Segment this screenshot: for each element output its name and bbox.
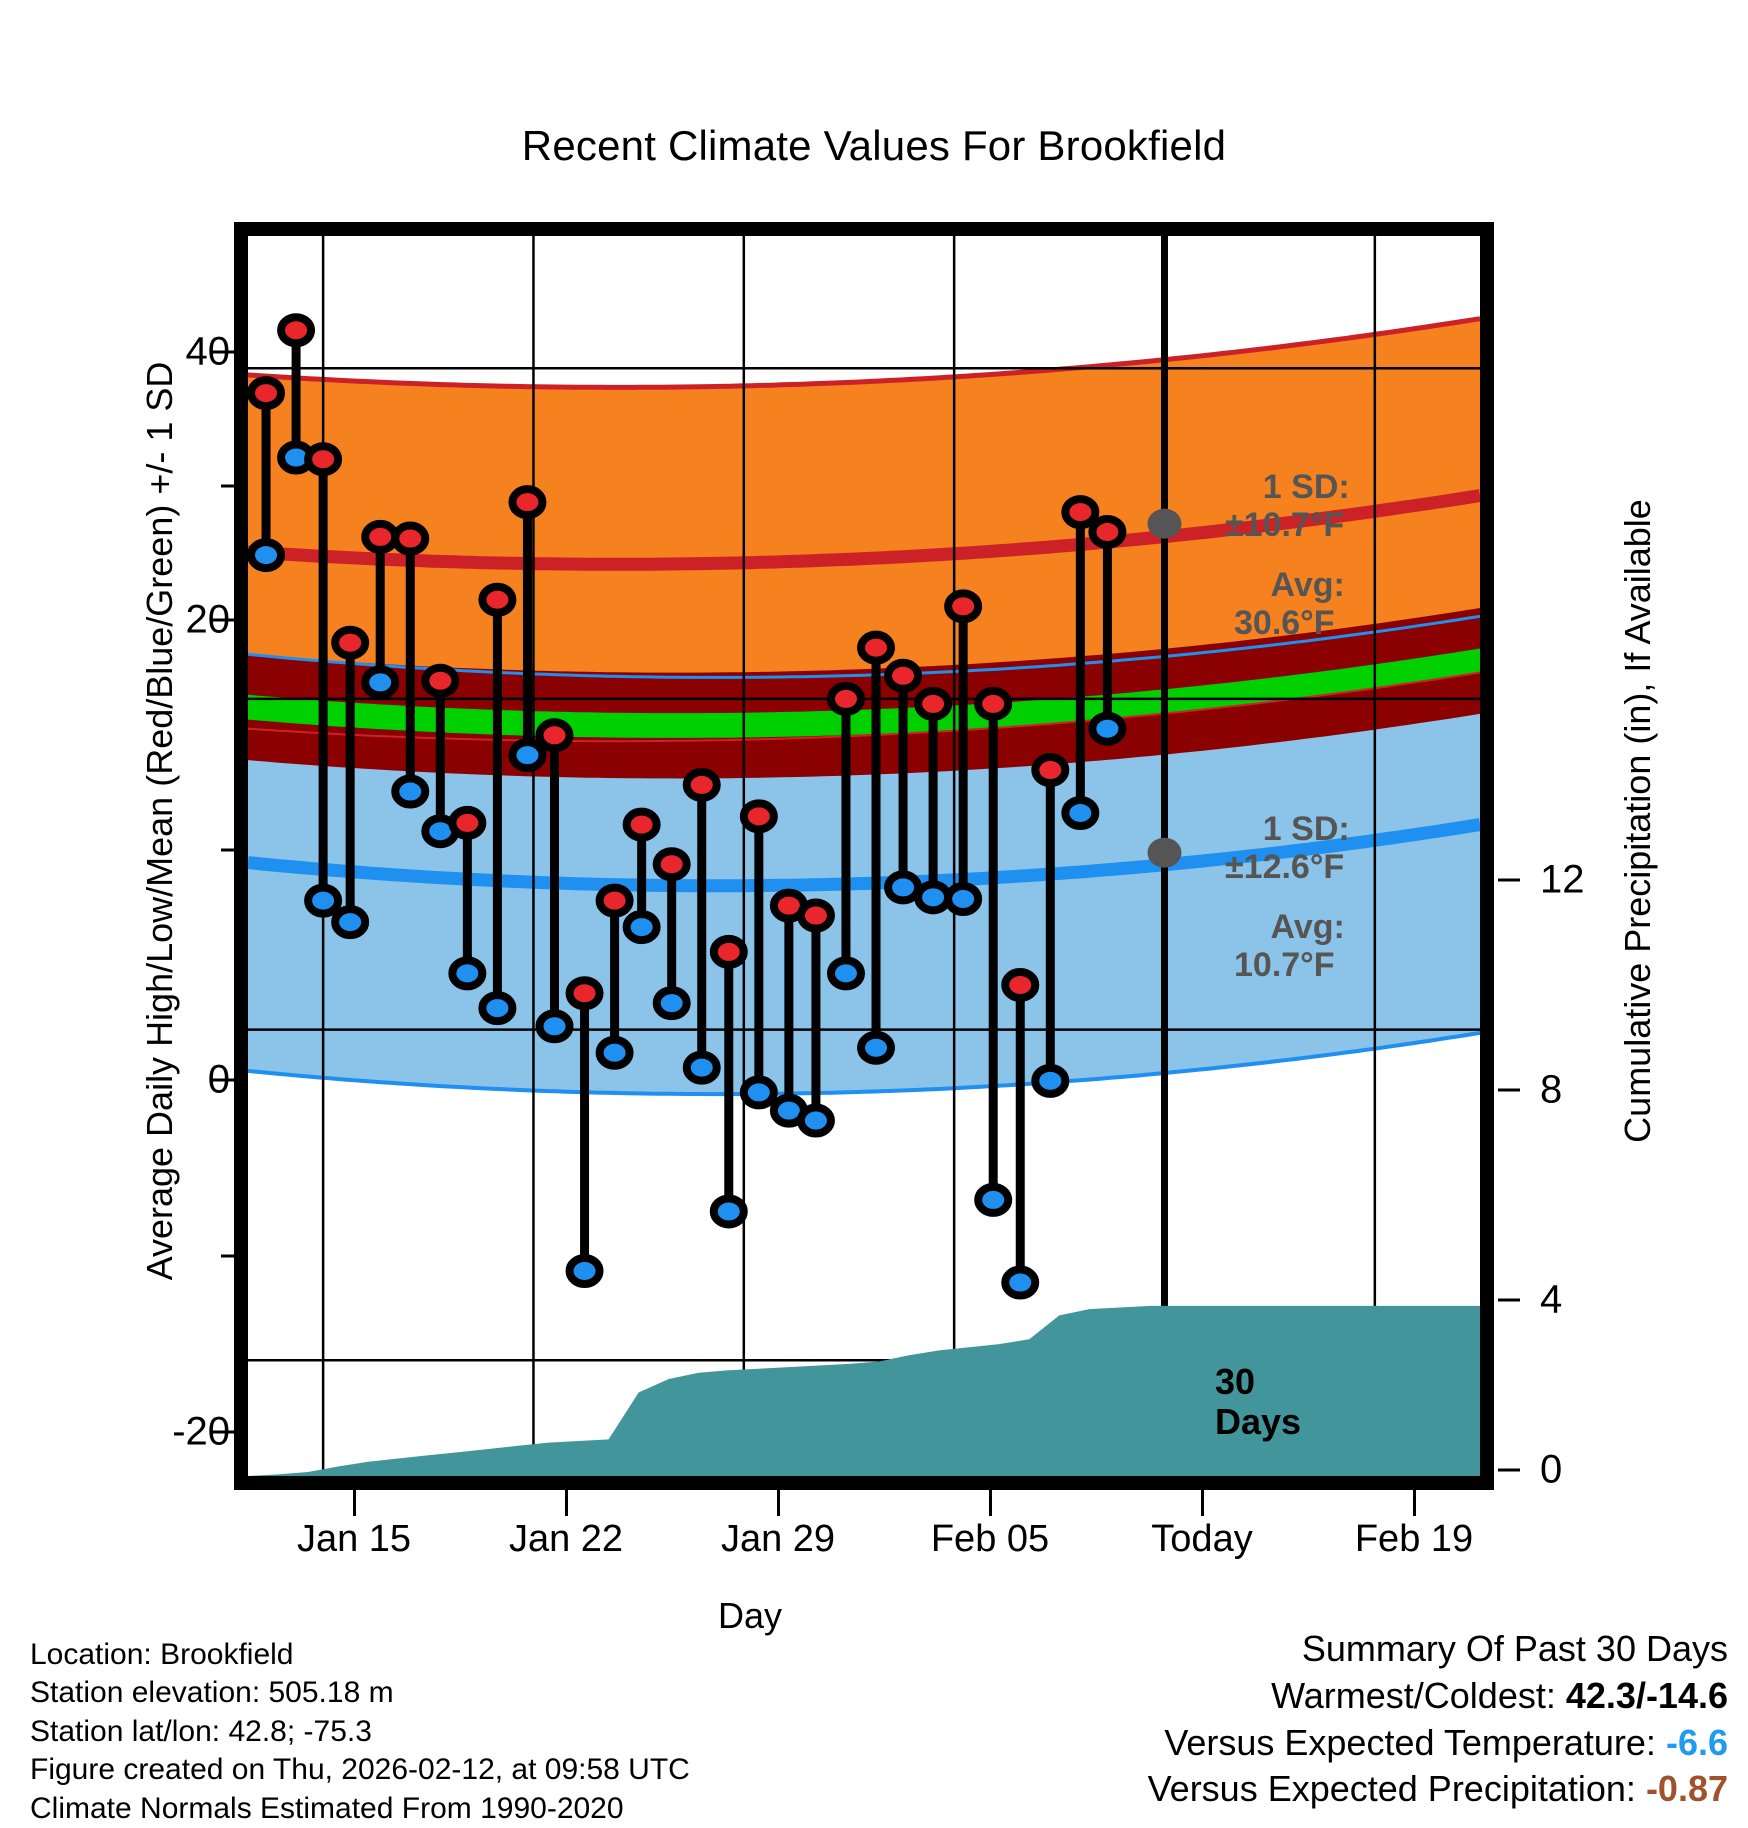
y-tickmark-right-0 <box>1498 1469 1520 1472</box>
summary-warmest-coldest: Warmest/Coldest: 42.3/-14.6 <box>1148 1673 1728 1720</box>
x-tickmark-4 <box>1201 1490 1204 1516</box>
precip-window-label: 30 Days <box>1215 1362 1301 1443</box>
y-tickmark-minor-left--10 <box>221 1255 234 1258</box>
x-tickmark-0 <box>353 1490 356 1516</box>
low-avg-annotation: Avg:10.7°F <box>1234 870 1345 1022</box>
x-tickmark-3 <box>989 1490 992 1516</box>
y-tickmark-left-40 <box>212 351 234 354</box>
y-tick-left-0: 0 <box>10 1058 230 1103</box>
y-tickmark-left-20 <box>212 619 234 622</box>
y-tickmark-left-0 <box>212 1079 234 1082</box>
summary-versus-precipitation: Versus Expected Precipitation: -0.87 <box>1148 1766 1728 1813</box>
versus-precipitation-value: -0.87 <box>1646 1768 1728 1809</box>
y-tickmark-left--20 <box>212 1431 234 1434</box>
y-tick-right-4: 4 <box>1540 1278 1748 1323</box>
page-title: Recent Climate Values For Brookfield <box>0 122 1748 170</box>
y-tickmark-minor-left-30 <box>221 485 234 488</box>
versus-temperature-value: -6.6 <box>1666 1722 1728 1763</box>
high-avg-annotation: Avg:30.6°F <box>1234 528 1345 680</box>
y-tick-left-40: 40 <box>10 330 230 375</box>
footer-created: Figure created on Thu, 2026-02-12, at 09… <box>30 1751 690 1789</box>
x-tickmark-2 <box>777 1490 780 1516</box>
warmest-coldest-value: 42.3/-14.6 <box>1566 1675 1728 1716</box>
y-axis-right-title: Cumulative Precipitation (in), If Availa… <box>1617 271 1659 1371</box>
y-tick-left-20: 20 <box>10 598 230 643</box>
footer-left: Location: Brookfield Station elevation: … <box>30 1636 690 1828</box>
y-tickmark-right-4 <box>1498 1299 1520 1302</box>
y-tick-left--20: -20 <box>10 1410 230 1455</box>
x-tick-label-feb-19: Feb 19 <box>1284 1518 1544 1561</box>
y-tickmark-minor-left-10 <box>221 849 234 852</box>
y-tick-right-12: 12 <box>1540 858 1748 903</box>
y-axis-left-title: Average Daily High/Low/Mean (Red/Blue/Gr… <box>139 271 181 1371</box>
footer-right: Summary Of Past 30 Days Warmest/Coldest:… <box>1148 1626 1728 1813</box>
y-tickmark-right-12 <box>1498 879 1520 882</box>
y-tick-right-8: 8 <box>1540 1068 1748 1113</box>
footer-normals: Climate Normals Estimated From 1990-2020 <box>30 1790 690 1828</box>
x-tickmark-1 <box>565 1490 568 1516</box>
summary-heading: Summary Of Past 30 Days <box>1148 1626 1728 1673</box>
footer-location: Location: Brookfield <box>30 1636 690 1674</box>
footer-elevation: Station elevation: 505.18 m <box>30 1674 690 1712</box>
summary-versus-temperature: Versus Expected Temperature: -6.6 <box>1148 1720 1728 1767</box>
y-tick-right-0: 0 <box>1540 1448 1748 1493</box>
footer-latlon: Station lat/lon: 42.8; -75.3 <box>30 1713 690 1751</box>
y-tickmark-right-8 <box>1498 1089 1520 1092</box>
x-tickmark-5 <box>1413 1490 1416 1516</box>
